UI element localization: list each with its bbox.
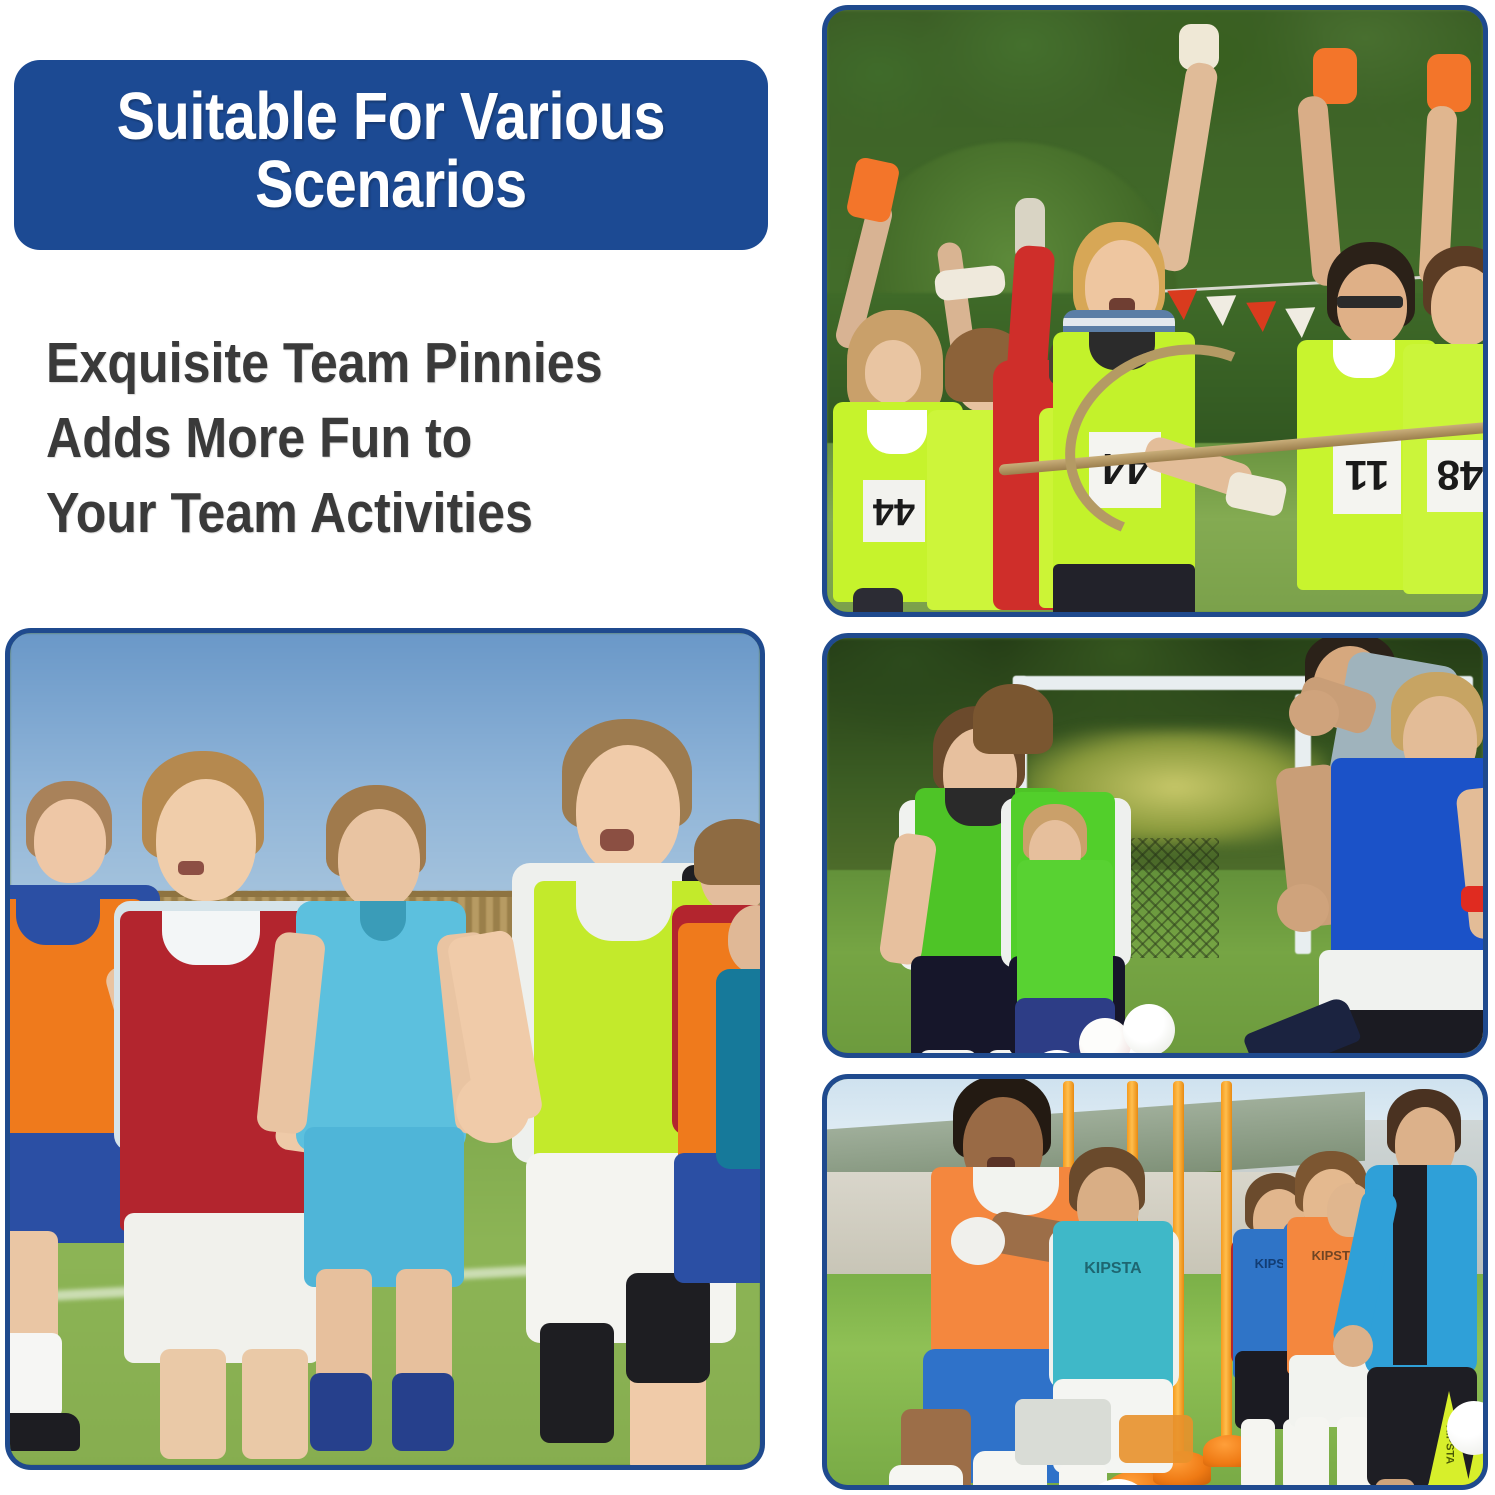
- head: [576, 745, 680, 875]
- teal-jersey: [716, 969, 760, 1169]
- training-drill-scene: [827, 638, 1483, 1053]
- white-shorts: [124, 1213, 320, 1363]
- knee-sleeve: [626, 1273, 710, 1383]
- tug-of-war-scene: 44 11: [827, 10, 1483, 612]
- slalom-drill-scene: KIPSTA KIPSTA: [827, 1079, 1483, 1485]
- title-banner: Suitable For Various Scenarios: [14, 60, 768, 250]
- pinnie-collar: [576, 881, 672, 941]
- head: [156, 779, 256, 901]
- sock: [1337, 1417, 1371, 1485]
- sock: [310, 1373, 372, 1451]
- hair: [694, 819, 760, 885]
- sock: [919, 1050, 977, 1053]
- tug-of-war-team-photo: 44 11: [822, 5, 1488, 617]
- pinnie-collar: [973, 1167, 1059, 1215]
- mouth: [178, 861, 204, 875]
- open-mouth: [600, 829, 634, 851]
- product-feature-page: Suitable For Various Scenarios Exquisite…: [0, 0, 1495, 1495]
- head: [34, 799, 106, 883]
- orange-glove: [1313, 48, 1357, 104]
- leg: [160, 1349, 226, 1459]
- bib-number: 11: [1333, 454, 1401, 496]
- sock: [1295, 1417, 1329, 1485]
- sock: [1059, 1463, 1107, 1485]
- head: [338, 809, 420, 909]
- orange-glove: [1427, 54, 1471, 112]
- equipment-crate: [1015, 1399, 1111, 1465]
- bunting-flag: [1246, 301, 1278, 333]
- black-shorts: [1053, 564, 1195, 612]
- jacket-stripe: [1393, 1165, 1427, 1365]
- shoe: [10, 1413, 80, 1451]
- bib-number: 48: [1427, 454, 1483, 496]
- pinnie-collar: [162, 911, 260, 965]
- hair: [973, 684, 1053, 754]
- sock: [1241, 1419, 1275, 1485]
- leg: [396, 1269, 452, 1389]
- fist: [456, 1073, 530, 1143]
- sock: [889, 1465, 963, 1485]
- bib-number: 44: [863, 492, 925, 530]
- red-wristband: [1461, 886, 1483, 912]
- glove: [951, 1217, 1005, 1265]
- soccer-ball: [1123, 1004, 1175, 1053]
- blue-shorts: [674, 1153, 760, 1283]
- subtitle-text: Exquisite Team Pinnies Adds More Fun to …: [46, 326, 662, 552]
- bunting-flag: [1207, 295, 1239, 327]
- leg: [316, 1269, 372, 1389]
- glasses: [1337, 296, 1403, 308]
- bunting-flag: [1285, 307, 1317, 339]
- black-leg-sleeve: [540, 1323, 614, 1443]
- brand-label: KIPSTA: [1061, 1261, 1165, 1277]
- sock: [392, 1373, 454, 1451]
- pinnie-collar: [1333, 340, 1395, 378]
- equipment-bag: [1119, 1415, 1193, 1463]
- slalom-pole-drill-photo: KIPSTA KIPSTA: [822, 1074, 1488, 1490]
- pinnie-collar: [867, 410, 927, 454]
- leg: [1375, 1479, 1415, 1485]
- hand: [1333, 1325, 1373, 1367]
- leg: [242, 1349, 308, 1459]
- fist: [1289, 690, 1339, 736]
- cyan-shorts: [304, 1127, 464, 1287]
- soccer-match-scene: [10, 633, 760, 1465]
- pinnie-collar: [16, 899, 100, 945]
- youth-soccer-match-photo: [5, 628, 765, 1470]
- green-pinnie: [1017, 860, 1113, 1010]
- sock: [10, 1333, 62, 1419]
- leg: [853, 588, 903, 612]
- head: [1431, 266, 1483, 346]
- page-title: Suitable For Various Scenarios: [117, 83, 666, 220]
- face: [865, 340, 921, 404]
- soccer-training-drill-photo: [822, 633, 1488, 1058]
- fist: [1277, 884, 1329, 932]
